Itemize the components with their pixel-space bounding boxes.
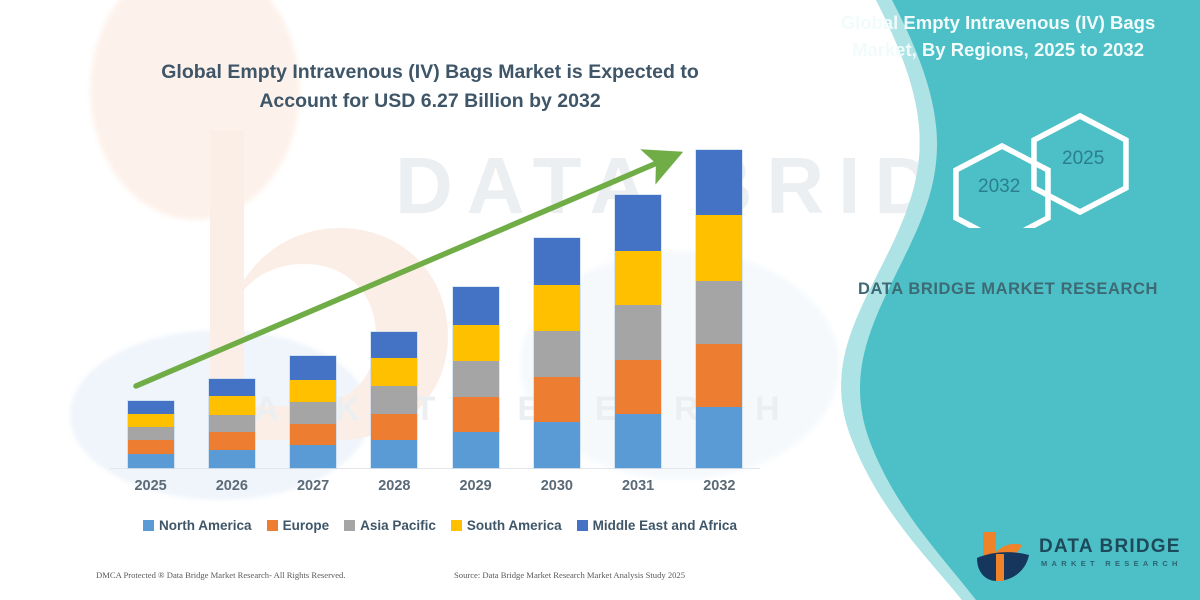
bar-2027 — [290, 356, 336, 468]
footer-copyright: DMCA Protected ® Data Bridge Market Rese… — [96, 570, 346, 580]
bar-segment — [290, 445, 336, 468]
legend-label: Asia Pacific — [360, 518, 436, 533]
legend-label: North America — [159, 518, 252, 533]
bar-segment — [615, 195, 661, 250]
bar-segment — [615, 414, 661, 468]
bar-segment — [696, 407, 742, 469]
logo-name: DATA BRIDGE — [1039, 536, 1181, 558]
bar-segment — [453, 361, 499, 397]
legend-label: Europe — [283, 518, 330, 533]
bar-segment — [534, 285, 580, 331]
x-axis-label-2030: 2030 — [522, 478, 592, 494]
bar-2030 — [534, 238, 580, 468]
bar-2031 — [615, 195, 661, 468]
bar-segment — [209, 450, 255, 468]
bar-segment — [128, 454, 174, 468]
bar-segment — [209, 415, 255, 432]
bar-2025 — [128, 401, 174, 468]
bar-segment — [128, 427, 174, 440]
bar-segment — [371, 332, 417, 359]
bar-segment — [534, 238, 580, 284]
logo-tagline: MARKET RESEARCH — [1041, 559, 1182, 568]
bar-segment — [128, 401, 174, 413]
bar-segment — [453, 325, 499, 362]
bar-segment — [534, 377, 580, 422]
bar-segment — [534, 331, 580, 377]
right-teal-panel: Global Empty Intravenous (IV) Bags Marke… — [780, 0, 1200, 600]
bar-segment — [534, 422, 580, 468]
bar-segment — [371, 358, 417, 386]
chart-plot-area — [110, 140, 760, 468]
hexagon-2025-label: 2025 — [1062, 148, 1104, 170]
footer-source: Source: Data Bridge Market Research Mark… — [454, 570, 685, 580]
bar-2029 — [453, 287, 499, 468]
bar-segment — [453, 287, 499, 325]
x-axis-label-2028: 2028 — [359, 478, 429, 494]
bar-2026 — [209, 379, 255, 468]
bar-segment — [696, 281, 742, 344]
legend-item[interactable]: South America — [451, 518, 562, 533]
x-axis-label-2027: 2027 — [278, 478, 348, 494]
chart-x-axis: 20252026202720282029203020312032 — [110, 478, 760, 502]
legend-item[interactable]: Asia Pacific — [344, 518, 436, 533]
year-hexagons: 2025 2032 — [940, 108, 1160, 228]
legend-label: South America — [467, 518, 562, 533]
legend-item[interactable]: North America — [143, 518, 252, 533]
legend-swatch — [267, 520, 278, 531]
legend-swatch — [344, 520, 355, 531]
legend-swatch — [451, 520, 462, 531]
bar-segment — [209, 432, 255, 449]
bar-segment — [128, 440, 174, 453]
bar-segment — [371, 440, 417, 468]
legend-item[interactable]: Europe — [267, 518, 330, 533]
bar-segment — [615, 360, 661, 413]
data-bridge-logo: DATA BRIDGE MARKET RESEARCH — [969, 528, 1184, 586]
x-axis-label-2025: 2025 — [116, 478, 186, 494]
x-axis-label-2031: 2031 — [603, 478, 673, 494]
panel-heading: Global Empty Intravenous (IV) Bags Marke… — [820, 10, 1176, 64]
bar-segment — [615, 251, 661, 305]
bar-segment — [696, 344, 742, 407]
bar-segment — [453, 432, 499, 468]
logo-mark-icon — [969, 528, 1039, 584]
legend-swatch — [577, 520, 588, 531]
chart-baseline — [110, 468, 760, 469]
bar-segment — [371, 386, 417, 414]
bar-segment — [371, 414, 417, 441]
legend-label: Middle East and Africa — [593, 518, 737, 533]
bar-segment — [615, 305, 661, 360]
panel-brand-name: DATA BRIDGE MARKET RESEARCH — [838, 276, 1178, 302]
x-axis-label-2029: 2029 — [441, 478, 511, 494]
bar-segment — [290, 380, 336, 403]
chart-legend: North AmericaEuropeAsia PacificSouth Ame… — [110, 518, 770, 533]
bar-2032 — [696, 150, 742, 468]
bar-segment — [290, 356, 336, 380]
bar-segment — [128, 414, 174, 427]
legend-item[interactable]: Middle East and Africa — [577, 518, 737, 533]
bar-segment — [209, 396, 255, 414]
x-axis-label-2026: 2026 — [197, 478, 267, 494]
bar-segment — [209, 379, 255, 396]
bar-2028 — [371, 332, 417, 468]
infographic-canvas: DATA BRIDGE MARKET RESEARCH Global Empty… — [0, 0, 1200, 600]
bar-segment — [696, 215, 742, 282]
x-axis-label-2032: 2032 — [684, 478, 754, 494]
bar-segment — [696, 150, 742, 215]
legend-swatch — [143, 520, 154, 531]
hexagon-2032-label: 2032 — [978, 176, 1020, 198]
stacked-bar-chart: 20252026202720282029203020312032 — [0, 0, 800, 600]
bar-segment — [453, 397, 499, 432]
bar-segment — [290, 402, 336, 424]
bar-segment — [290, 424, 336, 446]
